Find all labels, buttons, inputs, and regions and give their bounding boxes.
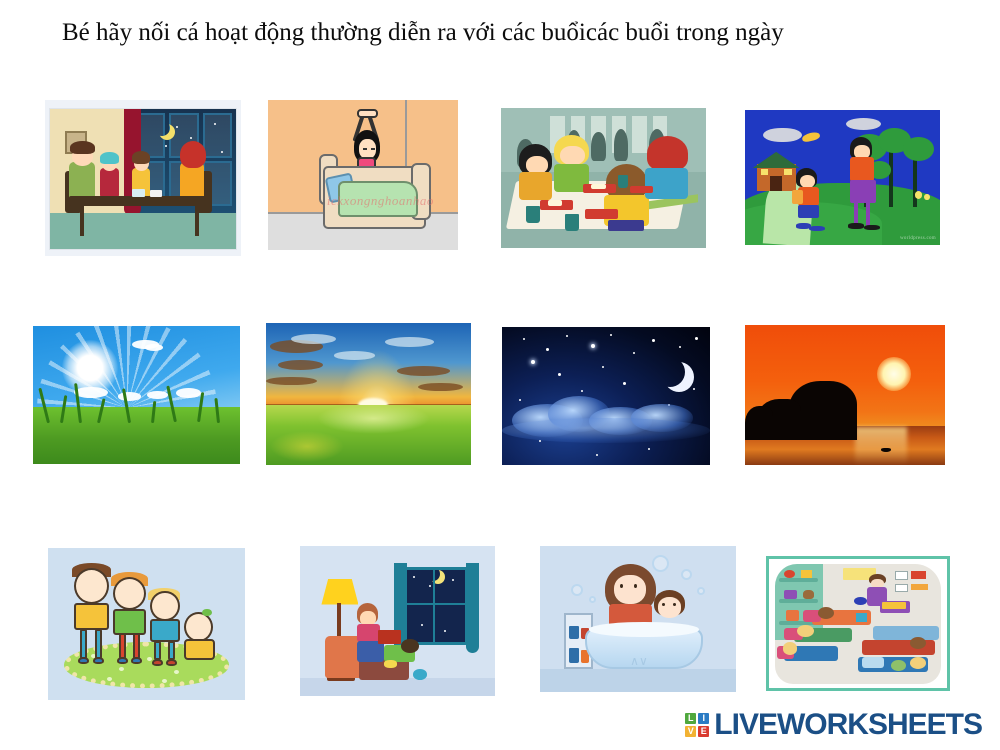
scene-midday-sun-grass <box>33 326 240 464</box>
logo-cell-i: I <box>698 713 709 724</box>
picture-lunch-at-school[interactable] <box>501 108 706 248</box>
scene-lunch-at-school <box>501 108 706 248</box>
logo-cell-v: V <box>685 726 696 737</box>
scene-bath-time: ∧∨ <box>540 546 736 692</box>
worksheet-page: Bé hãy nối cá hoạt động thường diễn ra v… <box>0 0 1000 750</box>
picture-sunrise-field[interactable] <box>266 323 471 465</box>
logo-icon: L I V E <box>685 713 709 737</box>
picture-family-dinner-night[interactable] <box>45 100 241 256</box>
scene-nap-time-preschool <box>766 556 950 691</box>
page-title: Bé hãy nối cá hoạt động thường diễn ra v… <box>62 16 962 51</box>
watermark-text: worldpress.com <box>900 236 936 241</box>
logo-cell-l: L <box>685 713 696 724</box>
scene-bedtime-story <box>300 546 495 696</box>
picture-sunset-sea[interactable] <box>745 325 945 465</box>
picture-bedtime-story[interactable] <box>300 546 495 696</box>
watermark-text: ickxongnghoanhao <box>327 193 456 209</box>
logo-cell-e: E <box>698 726 709 737</box>
picture-night-sky-moon[interactable] <box>502 327 710 465</box>
liveworksheets-logo[interactable]: L I V E LIVEWORKSHEETS <box>685 708 982 742</box>
picture-go-home-from-school[interactable]: worldpress.com <box>745 110 940 245</box>
picture-bath-time[interactable]: ∧∨ <box>540 546 736 692</box>
picture-nap-time-preschool[interactable] <box>766 556 950 691</box>
scene-sunrise-field <box>266 323 471 465</box>
brand-name: LIVEWORKSHEETS <box>714 708 982 742</box>
scene-sunset-sea <box>745 325 945 465</box>
scene-wake-up-stretch: ickxongnghoanhao <box>268 100 458 250</box>
scene-night-sky-moon <box>502 327 710 465</box>
picture-children-playing-rug[interactable] <box>48 548 245 700</box>
picture-midday-sun-grass[interactable] <box>33 326 240 464</box>
scene-family-dinner-night <box>49 108 237 250</box>
scene-children-playing-rug <box>48 548 245 700</box>
picture-wake-up-stretch[interactable]: ickxongnghoanhao <box>268 100 458 250</box>
scene-go-home-from-school: worldpress.com <box>745 110 940 245</box>
